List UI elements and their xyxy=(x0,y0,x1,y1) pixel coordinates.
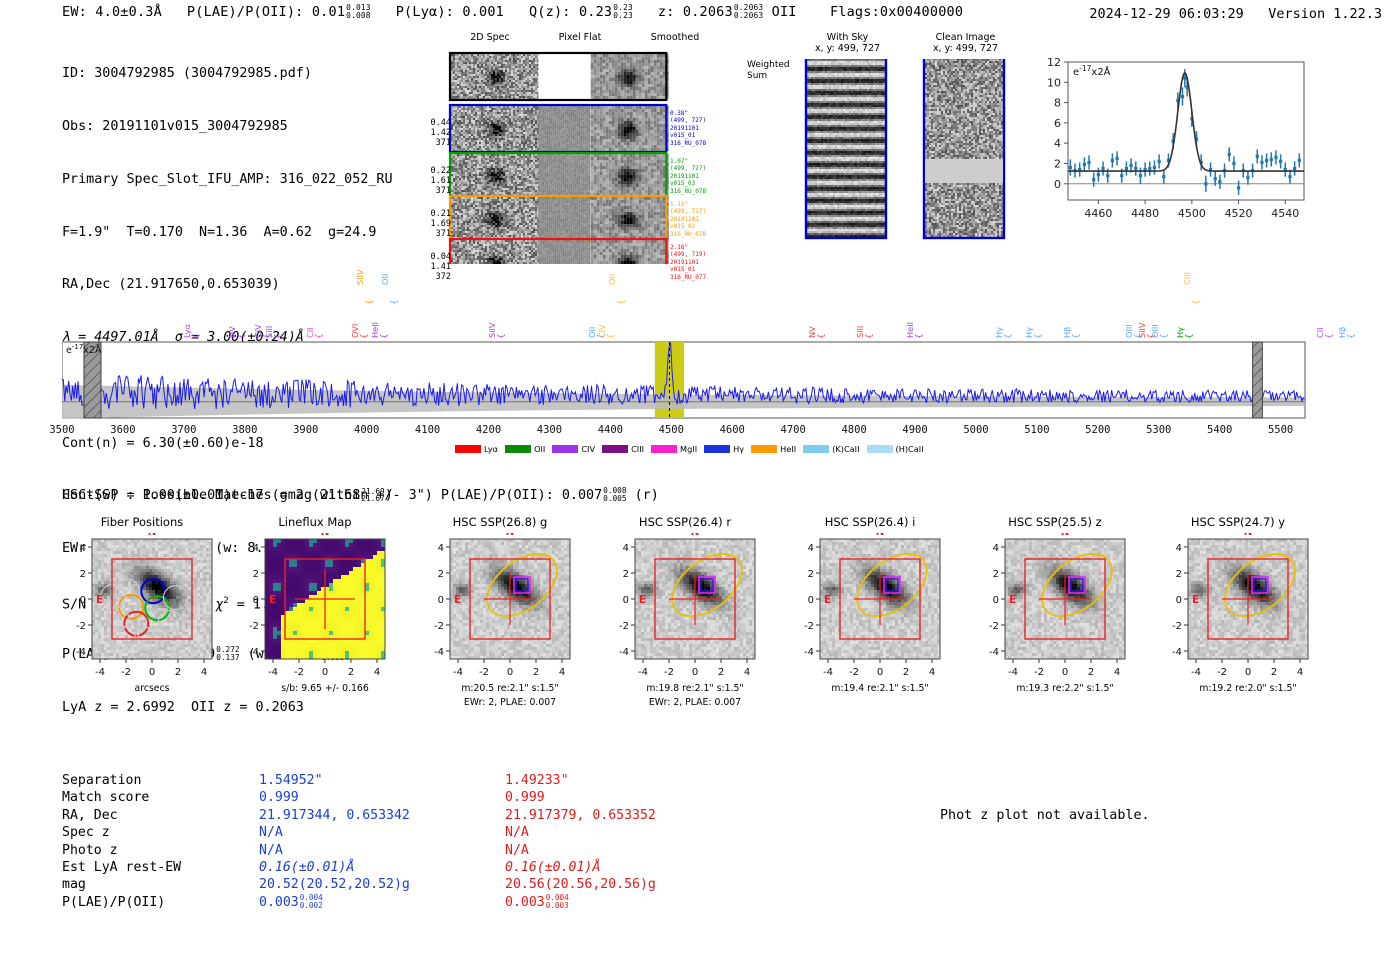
header-timestamp-version: 2024-12-29 06:03:29 Version 1.22.3 xyxy=(1089,6,1382,22)
spec2d-row-right-labels: 1.11"(499, 727)20191101v015_02316_RU_078 xyxy=(670,201,706,238)
header-summary-line: EW: 4.0±0.3Å P(LAE)/P(OII): 0.010.0130.0… xyxy=(62,4,963,20)
match-table-row-label: Photo z xyxy=(62,842,181,859)
match-table-value: N/A xyxy=(505,824,656,841)
legend-label: (K)CaII xyxy=(832,444,859,454)
thumbnail-caption-1: m:19.2 re:2.0" s:1.5" xyxy=(1158,683,1338,694)
match-table-value: N/A xyxy=(259,824,410,841)
info-cont-n: Cont(n) = 6.30(±0.60)e-18 xyxy=(62,435,393,453)
info-obs: Obs: 20191101v015_3004792985 xyxy=(62,118,393,136)
spec2d-row-left-labels: 0.221.61371 xyxy=(415,166,451,196)
thumbnail-image[interactable]: NE420-2-4-4-2024 xyxy=(1158,533,1343,693)
match-table-row-label: mag xyxy=(62,876,181,893)
spectrum-line-bracket: { xyxy=(1004,333,1014,339)
spectrum-line-bracket: { xyxy=(365,299,375,305)
spectrum-line-bracket: { xyxy=(817,333,827,339)
match-table-value: 21.917379, 0.653352 xyxy=(505,807,656,824)
thumbnail-title: HSC SSP(26.4) r xyxy=(605,515,765,529)
thumbnail-panel[interactable]: Fiber Positions+NE420-2-4-4-2024arcsecs xyxy=(62,515,247,725)
col-header-pixelflat: Pixel Flat xyxy=(535,32,625,43)
col-header-2dspec: 2D Spec xyxy=(450,32,530,43)
spectrum-x-tick: 4500 xyxy=(653,424,689,436)
header-plae-label: P(LAE)/P(OII): xyxy=(187,4,304,20)
spectrum-line-label: HeII xyxy=(905,322,915,338)
spectrum-line-label: CII xyxy=(305,327,315,338)
spectrum-x-tick: 3900 xyxy=(288,424,324,436)
spectrum-line-label: OIII xyxy=(1124,324,1134,338)
header-z-line: OII xyxy=(772,4,797,20)
spectrum-line-label: CIII xyxy=(1182,272,1192,285)
header-plya: P(Lyα): 0.001 xyxy=(396,4,504,20)
thumbnail-panel[interactable]: HSC SSP(26.4) iNE420-2-4-4-2024m:19.4 re… xyxy=(790,515,975,725)
thumbnail-caption-1: m:19.8 re:2.1" s:1.5" xyxy=(605,683,785,694)
header-z-lo: 0.2063 xyxy=(734,12,763,20)
spectrum-line-bracket: { xyxy=(1185,333,1195,339)
spectrum-line-label: OII xyxy=(607,274,617,285)
spectrum-line-label: NV xyxy=(227,326,237,338)
spectrum-line-label: SiII xyxy=(855,326,865,338)
spectrum-line-label: Lyα xyxy=(182,324,192,338)
spectrum-line-label: HeII xyxy=(370,322,380,338)
match-table-blue-column: 1.54952"0.99921.917344, 0.653342N/AN/A0.… xyxy=(259,772,410,911)
legend-item: CIII xyxy=(602,444,644,454)
col-header-smoothed: Smoothed xyxy=(630,32,720,43)
match-table-value: 1.54952" xyxy=(259,772,410,789)
match-table-value: 21.917344, 0.653342 xyxy=(259,807,410,824)
spec2d-row-right-labels: 2.16"(499, 719)20191101v015_01316_RU_077 xyxy=(670,244,706,281)
match-table-row-label: Spec z xyxy=(62,824,181,841)
spectrum-x-tick: 3800 xyxy=(227,424,263,436)
thumbnail-panel[interactable]: HSC SSP(25.5) zNE420-2-4-4-2024m:19.3 re… xyxy=(975,515,1160,725)
spectrum-line-bracket: { xyxy=(1325,333,1335,339)
spectrum-x-tick: 4800 xyxy=(836,424,872,436)
legend-label: MgII xyxy=(680,444,697,454)
spectrum-line-label: Hγ xyxy=(1175,327,1185,338)
legend-item: Hγ xyxy=(704,444,744,454)
spectrum-line-label: OVI xyxy=(350,324,360,338)
spectrum-line-bracket: { xyxy=(607,333,617,339)
header-plae-lo: 0.008 xyxy=(346,12,371,20)
spectrum-x-tick: 3700 xyxy=(166,424,202,436)
legend-item: Lyα xyxy=(455,444,498,454)
thumbnail-title: Fiber Positions xyxy=(62,515,222,529)
spectrum-x-tick: 5200 xyxy=(1080,424,1116,436)
spectrum-line-label: Hγ xyxy=(1024,327,1034,338)
legend-swatch xyxy=(651,445,677,453)
spectrum-line-label: SiII xyxy=(264,326,274,338)
header-qz-label: Q(z): xyxy=(529,4,571,20)
legend-label: (H)CaII xyxy=(896,444,924,454)
match-table-row-label: P(LAE)/P(OII) xyxy=(62,894,181,911)
spectrum-line-label: OII xyxy=(380,274,390,285)
match-table-row-label: Est LyA rest-EW xyxy=(62,859,181,876)
match-table-value: N/A xyxy=(505,842,656,859)
spec2d-row-left-labels: 0.211.69371 xyxy=(415,209,451,239)
thumbnail-image[interactable]: NE420-2-4-4-2024 xyxy=(605,533,790,693)
match-table-value: 0.16(±0.01)Å xyxy=(259,859,410,876)
spectrum-line-label: NV xyxy=(807,326,817,338)
header-qz-value: 0.23 xyxy=(579,4,612,20)
legend-label: CIII xyxy=(631,444,644,454)
thumbnail-caption-1: arcsecs xyxy=(62,683,242,694)
spectrum-line-label: CII xyxy=(1315,327,1325,338)
spectrum-line-bracket: { xyxy=(380,333,390,339)
thumbnail-title: Lineflux Map xyxy=(235,515,395,529)
legend-swatch xyxy=(704,445,730,453)
spec2d-row-right-labels: 0.38"(499, 727)20191101v015_01316_RU_078 xyxy=(670,110,706,147)
spectrum-line-label: Hγ xyxy=(994,327,1004,338)
spectrum-x-tick: 4400 xyxy=(592,424,628,436)
thumbnail-caption-1: m:19.4 re:2.1" s:1.5" xyxy=(790,683,970,694)
thumbnail-image[interactable]: NE420-2-4-4-2024 xyxy=(975,533,1160,693)
thumbnail-caption-1: m:20.5 re:2.1" s:1.5" xyxy=(420,683,600,694)
match-table-row-label: RA, Dec xyxy=(62,807,181,824)
legend-label: Hγ xyxy=(733,444,744,454)
spectrum-line-bracket: { xyxy=(1347,333,1357,339)
match-table-row-label: Separation xyxy=(62,772,181,789)
match-table-value: 0.16(±0.01)Å xyxy=(505,859,656,876)
emission-line-plot: 02468101244604480450045204540e-17x2Å xyxy=(1036,52,1308,230)
thumbnail-panel[interactable]: HSC SSP(24.7) yNE420-2-4-4-2024m:19.2 re… xyxy=(1158,515,1343,725)
spectrum-line-bracket: { xyxy=(390,299,400,305)
spec2d-row-left-labels: 0.441.42371 xyxy=(415,118,451,148)
match-table-labels: SeparationMatch scoreRA, DecSpec zPhoto … xyxy=(62,772,181,911)
cutout-title-withsky: With Sky x, y: 499, 727 xyxy=(795,32,900,54)
info-radec: RA,Dec (21.917650,0.653039) xyxy=(62,276,393,294)
legend-swatch xyxy=(803,445,829,453)
thumbnail-title: HSC SSP(24.7) y xyxy=(1158,515,1318,529)
spectrum-line-bracket: { xyxy=(1034,333,1044,339)
spectrum-line-bracket: { xyxy=(237,333,247,339)
timestamp: 2024-12-29 06:03:29 xyxy=(1089,6,1243,22)
spectrum-x-tick: 4300 xyxy=(531,424,567,436)
spectrum-x-tick: 5100 xyxy=(1019,424,1055,436)
thumbnail-title: HSC SSP(25.5) z xyxy=(975,515,1135,529)
spectrum-line-bracket: { xyxy=(360,333,370,339)
hsc-ssp-match-line: HSC-SSP : Possible Matches = 2 (within +… xyxy=(62,487,659,503)
photz-note: Phot z plot not available. xyxy=(940,808,1150,823)
thumbnail-caption-1: m:19.3 re:2.2" s:1.5" xyxy=(975,683,1155,694)
thumbnail-caption-2: EWr: 2, PLAE: 0.007 xyxy=(605,697,785,708)
match-table-value: 20.52(20.52,20.52)g xyxy=(259,876,410,893)
match-table-red-column: 1.49233"0.99921.917379, 0.653352N/AN/A0.… xyxy=(505,772,656,911)
spectrum-x-tick: 4900 xyxy=(897,424,933,436)
legend-item: CIV xyxy=(552,444,595,454)
spectrum-legend: LyαOIICIVCIIIMgIIHγHeII(K)CaII(H)CaII xyxy=(455,444,924,454)
spectrum-line-bracket: { xyxy=(865,333,875,339)
header-flags: Flags:0x00400000 xyxy=(830,4,963,20)
legend-swatch xyxy=(602,445,628,453)
legend-label: OII xyxy=(534,444,545,454)
spectrum-x-tick: 5400 xyxy=(1202,424,1238,436)
spectrum-line-label: Hβ xyxy=(1337,327,1347,338)
legend-item: OII xyxy=(505,444,545,454)
spectrum-x-tick: 5500 xyxy=(1263,424,1299,436)
thumbnail-image[interactable]: NE420-2-4-4-2024 xyxy=(790,533,975,693)
legend-swatch xyxy=(455,445,481,453)
legend-swatch xyxy=(751,445,777,453)
legend-label: HeII xyxy=(780,444,796,454)
thumbnail-title: HSC SSP(26.8) g xyxy=(420,515,580,529)
info-primary-spec-slot: Primary Spec_Slot_IFU_AMP: 316_022_052_R… xyxy=(62,171,393,189)
spectrum-line-label: OII xyxy=(587,327,597,338)
legend-swatch xyxy=(867,445,893,453)
header-z-value: 0.2063 xyxy=(683,4,733,20)
spectrum-x-tick: 5000 xyxy=(958,424,994,436)
spectrum-x-tick: 4000 xyxy=(349,424,385,436)
thumbnail-image[interactable]: NE420-2-4-4-2024 xyxy=(235,533,420,693)
thumbnail-image[interactable]: +NE420-2-4-4-2024 xyxy=(62,533,247,693)
legend-item: HeII xyxy=(751,444,796,454)
thumbnail-caption-2: EWr: 2, PLAE: 0.007 xyxy=(420,697,600,708)
cutout-title-cleanimage: Clean Image x, y: 499, 727 xyxy=(913,32,1018,54)
legend-swatch xyxy=(505,445,531,453)
spec2d-row-right-labels: 1.07"(499, 727)20191101v015_03316_RU_078 xyxy=(670,158,706,195)
spectrum-line-bracket: { xyxy=(1192,299,1202,305)
thumbnail-panel[interactable]: HSC SSP(26.8) gNE420-2-4-4-2024m:20.5 re… xyxy=(420,515,605,725)
spectrum-line-bracket: { xyxy=(192,333,202,339)
header-plae-value: 0.01 xyxy=(312,4,345,20)
spectrum-line-bracket: { xyxy=(315,333,325,339)
legend-label: CIV xyxy=(581,444,595,454)
spectrum-x-tick: 4600 xyxy=(714,424,750,436)
legend-item: (H)CaII xyxy=(867,444,924,454)
match-table-row-label: Match score xyxy=(62,789,181,806)
spectrum-line-label: SiIV xyxy=(355,270,365,286)
spectrum-line-label: CIV xyxy=(253,324,263,338)
spectrum-x-tick: 4700 xyxy=(775,424,811,436)
legend-item: (K)CaII xyxy=(803,444,859,454)
full-spectrum-plot: 0510e-17x2Å xyxy=(62,340,1305,420)
spectrum-x-tick: 5300 xyxy=(1141,424,1177,436)
thumbnail-title: HSC SSP(26.4) i xyxy=(790,515,950,529)
spectrum-x-tick: 3600 xyxy=(105,424,141,436)
match-table-value: 20.56(20.56,20.56)g xyxy=(505,876,656,893)
match-table-value: 0.0030.0040.002 xyxy=(259,894,410,911)
spectrum-x-tick: 4100 xyxy=(410,424,446,436)
header-qz-lo: 0.23 xyxy=(613,12,633,20)
legend-item: MgII xyxy=(651,444,697,454)
spectrum-line-label: SiIV xyxy=(1137,323,1147,339)
match-table-value: N/A xyxy=(259,842,410,859)
cutout-images xyxy=(795,59,1025,244)
spectrum-line-bracket: { xyxy=(617,299,627,305)
spectrum-line-label: CIV xyxy=(597,324,607,338)
spectrum-x-tick: 4200 xyxy=(471,424,507,436)
thumbnail-panel[interactable]: HSC SSP(26.4) rNE420-2-4-4-2024m:19.8 re… xyxy=(605,515,790,725)
version: Version 1.22.3 xyxy=(1268,6,1382,22)
info-params: F=1.9" T=0.170 N=1.36 A=0.62 g=24.9 xyxy=(62,224,393,242)
thumbnail-caption-1: s/b: 9.65 +/- 0.166 xyxy=(235,683,415,694)
spectrum-line-bracket: { xyxy=(915,333,925,339)
spectrum-x-tick: 3500 xyxy=(44,424,80,436)
match-table-value: 0.999 xyxy=(259,789,410,806)
thumbnail-panel[interactable]: Lineflux MapNE420-2-4-4-2024s/b: 9.65 +/… xyxy=(235,515,420,725)
legend-swatch xyxy=(552,445,578,453)
spectrum-line-bracket: { xyxy=(1072,333,1082,339)
spectrum-line-label: SiIV xyxy=(487,323,497,339)
match-table-value: 0.999 xyxy=(505,789,656,806)
header-ew: EW: 4.0±0.3Å xyxy=(62,4,162,20)
thumbnail-image[interactable]: NE420-2-4-4-2024 xyxy=(420,533,605,693)
spectrum-line-label: Hβ xyxy=(1062,327,1072,338)
legend-label: Lyα xyxy=(484,444,498,454)
match-table-value: 1.49233" xyxy=(505,772,656,789)
spectrum-line-bracket: { xyxy=(497,333,507,339)
header-z-label: z: xyxy=(658,4,675,20)
match-table-value: 0.0030.0040.003 xyxy=(505,894,656,911)
spectrum-line-bracket: { xyxy=(274,333,284,339)
spectrum-line-bracket: { xyxy=(1160,333,1170,339)
spectrum-line-label: OIII xyxy=(1150,324,1160,338)
info-id: ID: 3004792985 (3004792985.pdf) xyxy=(62,65,393,83)
spec2d-row-left-labels: 0.041.41372 xyxy=(415,252,451,282)
